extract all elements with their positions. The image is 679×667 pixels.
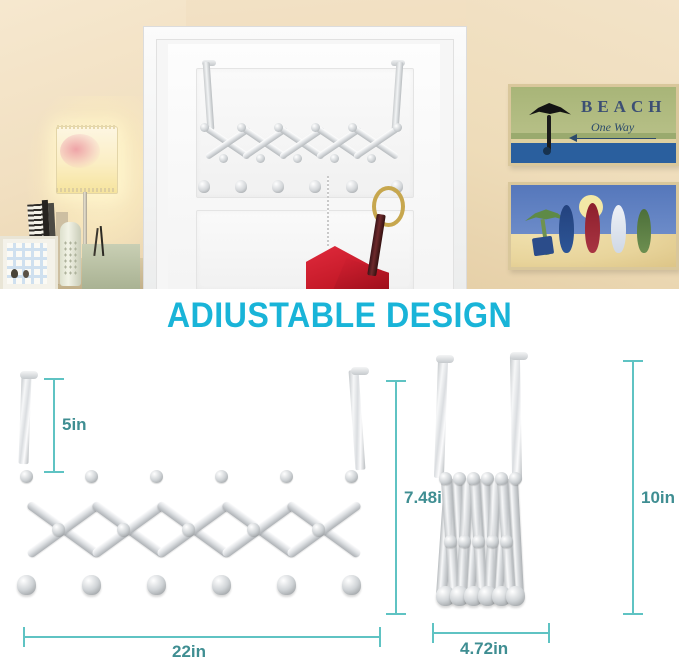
door-bracket-hook-right [351,367,369,375]
door-bracket-right [510,355,522,481]
dimension-cap [623,360,643,362]
door-hook-strap-left [203,62,215,130]
rack-rivet [280,470,293,483]
door-bracket-left [434,358,448,478]
art-sea [511,143,676,163]
rack-rivet [444,535,457,548]
rack-rivet [439,472,452,485]
rack-rivet [509,472,522,485]
rack-hook [272,180,284,193]
dimension-label-472in: 4.72in [460,639,508,659]
surfboards-beach-art [508,182,679,270]
art-arrow-line [571,138,656,139]
rack-hook [342,575,361,595]
rack-rivet [348,123,357,132]
rack-rivet [330,154,339,163]
rack-rivet [182,523,195,536]
door-bracket-hook-right [510,352,528,360]
rack-rivet [247,523,260,536]
rack-rivet [85,470,98,483]
phone-keypad [63,240,78,276]
rack-hook [346,180,358,193]
palm-trunk [547,115,551,151]
rack-rivet [345,470,358,483]
door-bracket-hook-left [20,371,38,379]
rack-rivet [393,123,402,132]
rack-hook [235,180,247,193]
frame-figure [11,269,18,278]
product-infographic: BEACH One Way ADIUSTABLE DESIGN [0,0,679,667]
expanded-rack-diagram: 5in 7.48in 22in [0,350,400,667]
rack-hook [17,575,36,595]
rack-rivet [219,154,228,163]
rack-rivet [312,523,325,536]
surfboard-icon [637,209,651,253]
dimension-line-22in [23,636,381,638]
door-bracket-hook-left [436,355,454,363]
rack-hook [212,575,231,595]
dimension-line-748in [395,380,397,615]
surfboard-icon [585,203,600,253]
art-oneway-text: One Way [591,120,634,135]
dimension-label-22in: 22in [172,642,206,662]
rack-rivet [481,472,494,485]
rack-hook [147,575,166,595]
dimension-label-5in: 5in [62,415,87,435]
beach-chair-icon [532,236,554,257]
dimension-line-472in [432,632,550,634]
rack-hook [277,575,296,595]
coconut [543,147,551,155]
rack-rivet [311,123,320,132]
dimension-cap [623,613,643,615]
rack-rivet [215,470,228,483]
accordion-hook-rack [196,62,412,192]
rack-rivet [453,472,466,485]
dimension-label-10in: 10in [641,488,675,508]
rack-rivet [274,123,283,132]
rack-hook [82,575,101,595]
rack-rivet [472,535,485,548]
rack-hook [309,180,321,193]
dimension-cap [23,627,25,647]
rack-rivet [367,154,376,163]
rack-rivet [500,535,513,548]
door-bracket-left [18,374,31,464]
dimension-diagrams: 5in 7.48in 22in [0,350,679,667]
rack-hook [506,586,525,606]
art-beach-text: BEACH [581,97,666,117]
bag-chain [327,176,329,248]
desk-organizer [82,244,140,289]
lamp-shade-icon [56,126,118,194]
rack-rivet [458,535,471,548]
rack-rivet [293,154,302,163]
door-bracket-right [349,370,366,470]
frame-figure [23,270,29,278]
picture-frame [0,236,58,289]
surfboard-icon [611,205,626,253]
rack-rivet [20,470,33,483]
lifestyle-photo: BEACH One Way [0,0,679,289]
dimension-line-5in [53,378,55,473]
dimension-cap [548,623,550,643]
page-title: ADIUSTABLE DESIGN [27,296,652,336]
surfboard-icon [559,205,574,253]
rack-rivet [150,470,163,483]
dimension-line-10in [632,360,634,615]
dimension-cap [44,471,64,473]
dimension-cap [432,623,434,643]
rack-rivet [486,535,499,548]
collapsed-rack-diagram: 10in 4.72in [400,350,679,667]
rack-rivet [256,154,265,163]
rack-rivet [237,123,246,132]
rack-rivet [117,523,130,536]
rack-hook [198,180,210,193]
door-hook-strap-right [392,62,404,130]
dimension-cap [379,627,381,647]
rack-rivet [495,472,508,485]
dimension-cap [44,378,64,380]
art-arrow-icon [569,134,577,142]
rack-rivet [52,523,65,536]
rack-rivet [200,123,209,132]
beach-sign-art: BEACH One Way [508,84,679,166]
rack-rivet [467,472,480,485]
